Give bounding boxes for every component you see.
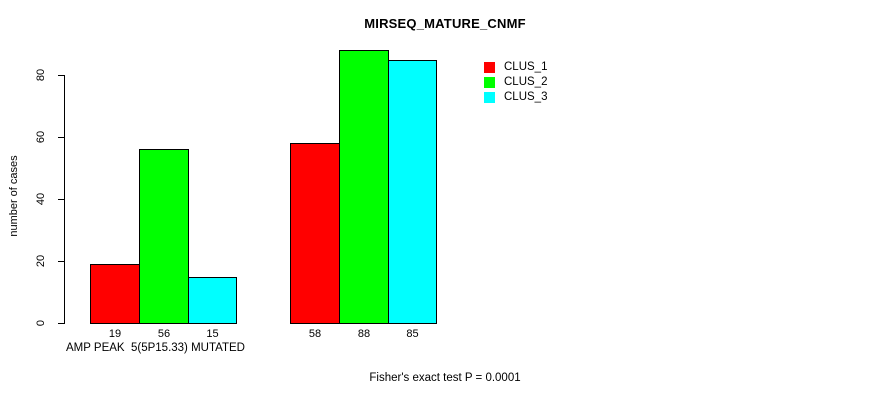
bar-group1-clus3	[188, 277, 237, 325]
y-axis-tick	[58, 323, 64, 324]
legend-item-label: CLUS_2	[504, 75, 547, 90]
y-axis-tick	[58, 261, 64, 262]
y-axis-tick-label-text: 20	[35, 248, 47, 274]
y-axis-tick	[58, 75, 64, 76]
y-axis-tick-label: 20	[28, 255, 54, 267]
chart-figure: MIRSEQ_MATURE_CNMF 020406080 number of c…	[0, 0, 890, 400]
bar-group2-clus2	[339, 50, 389, 324]
x-axis-group-label: AMP PEAK 5(5P15.33) MUTATED	[66, 342, 245, 355]
bar-count-label: 85	[388, 328, 437, 340]
legend-color-swatch	[484, 92, 495, 103]
statistical-annotation: Fisher's exact test P = 0.0001	[0, 372, 890, 385]
plot-area: 020406080 number of cases 195615588885 A…	[0, 0, 470, 400]
bar-count-label: 19	[90, 328, 140, 340]
bar-group1-clus1	[90, 264, 140, 324]
y-axis-tick-label-text: 40	[35, 186, 47, 212]
y-axis-tick	[58, 199, 64, 200]
y-axis-title: number of cases	[8, 116, 20, 276]
bar-group1-clus2	[139, 149, 189, 324]
legend-item-label: CLUS_1	[504, 60, 547, 75]
y-axis-tick-label: 40	[28, 193, 54, 205]
bar-group2-clus1	[290, 143, 340, 324]
legend-color-swatch	[484, 77, 495, 88]
bar-count-label: 56	[139, 328, 189, 340]
y-axis-tick-label: 60	[28, 131, 54, 143]
bar-group2-clus3	[388, 60, 437, 325]
bar-count-label: 15	[188, 328, 237, 340]
y-axis-tick-label-text: 0	[35, 310, 47, 336]
y-axis-tick-label-text: 80	[35, 62, 47, 88]
bar-count-label: 88	[339, 328, 389, 340]
legend-item-label: CLUS_3	[504, 90, 547, 105]
y-axis-tick-label: 80	[28, 69, 54, 81]
y-axis-tick	[58, 137, 64, 138]
y-axis-tick-label: 0	[28, 317, 54, 329]
legend-color-swatch	[484, 62, 495, 73]
y-axis-tick-label-text: 60	[35, 124, 47, 150]
bar-count-label: 58	[290, 328, 340, 340]
y-axis-line	[64, 75, 65, 324]
